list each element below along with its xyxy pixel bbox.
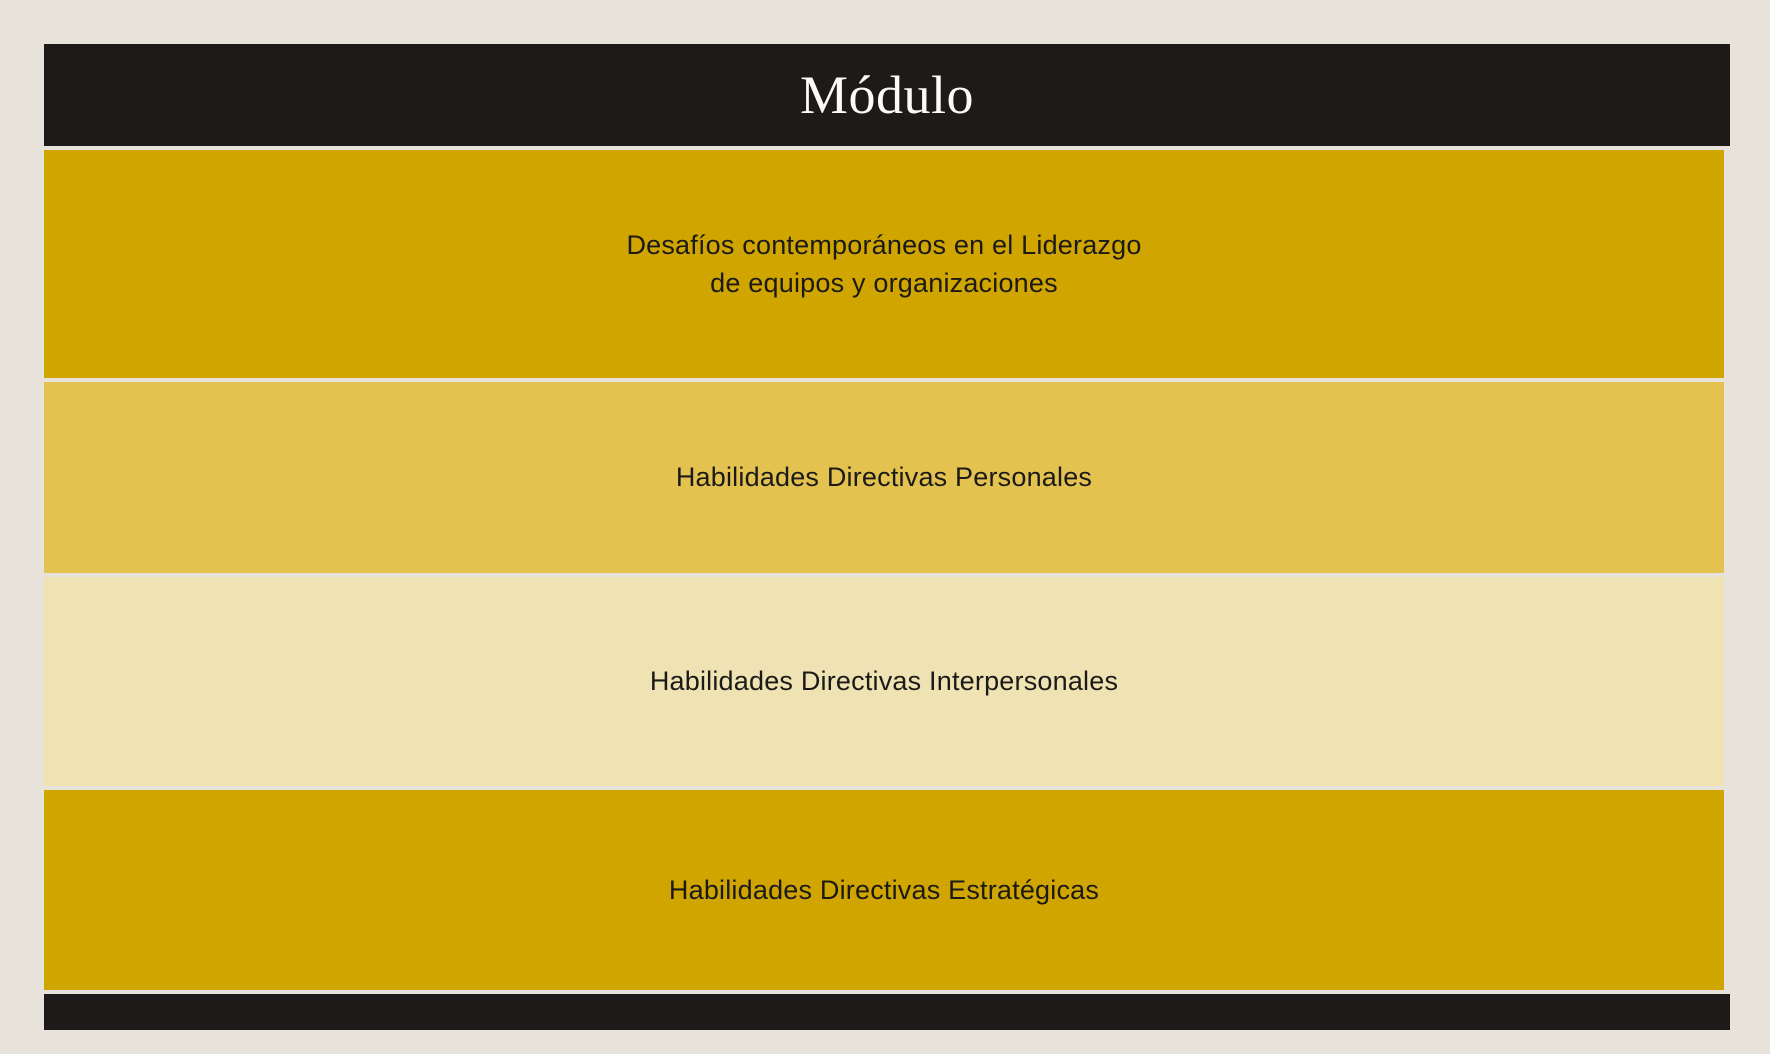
slide-footer-bar (44, 994, 1730, 1030)
module-band-1-label: Desafíos contemporáneos en el Liderazgo … (626, 226, 1141, 303)
module-band-4[interactable]: Habilidades Directivas Estratégicas (44, 790, 1724, 990)
module-band-3[interactable]: Habilidades Directivas Interpersonales (44, 577, 1724, 786)
page-title: Módulo (800, 68, 974, 122)
module-band-1[interactable]: Desafíos contemporáneos en el Liderazgo … (44, 150, 1724, 378)
slide-header-bar: Módulo (44, 44, 1730, 146)
module-band-2[interactable]: Habilidades Directivas Personales (44, 382, 1724, 573)
slide-canvas: Módulo Desafíos contemporáneos en el Lid… (0, 0, 1770, 1054)
module-band-3-label: Habilidades Directivas Interpersonales (650, 662, 1118, 700)
module-band-4-label: Habilidades Directivas Estratégicas (669, 871, 1099, 909)
module-band-2-label: Habilidades Directivas Personales (676, 458, 1092, 496)
